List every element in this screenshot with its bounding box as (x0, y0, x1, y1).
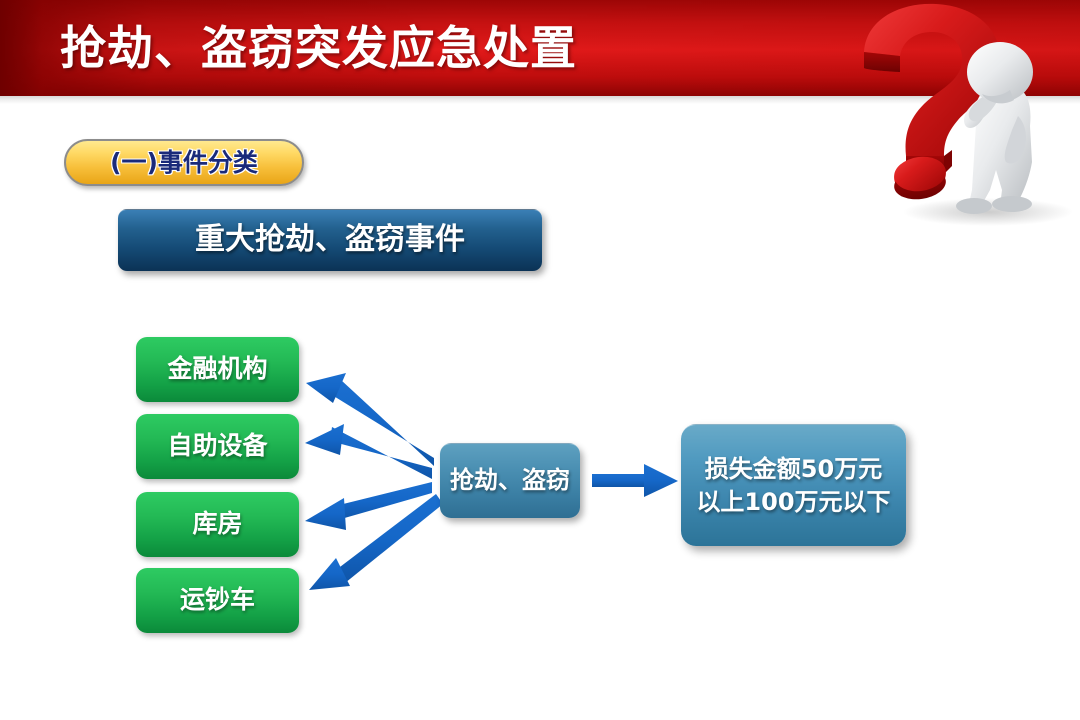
slide-canvas: 抢劫、盗窃突发应急处置 (0, 0, 1080, 720)
arrow-to-loss-amount (592, 464, 678, 497)
heading-box[interactable]: 重大抢劫、盗窃事件 (118, 209, 542, 271)
category-box-self-service-equipment[interactable]: 自助设备 (136, 414, 299, 479)
outcome-line-2: 以上100万元以下 (696, 486, 890, 519)
category-label: 运钞车 (136, 568, 299, 631)
category-box-financial-institution[interactable]: 金融机构 (136, 337, 299, 402)
category-box-warehouse[interactable]: 库房 (136, 492, 299, 557)
category-label: 库房 (136, 492, 299, 555)
arrow-to-financial-institution (306, 373, 434, 466)
arrow-to-warehouse (305, 482, 432, 530)
question-mark-illustration (840, 0, 1080, 230)
heading-box-label: 重大抢劫、盗窃事件 (118, 210, 542, 270)
arrow-to-self-service-equipment (305, 424, 432, 479)
outcome-box-loss-amount[interactable]: 损失金额50万元 以上100万元以下 (681, 424, 906, 546)
category-box-cash-truck[interactable]: 运钞车 (136, 568, 299, 633)
page-title: 抢劫、盗窃突发应急处置 (60, 14, 577, 82)
outcome-line-1: 损失金额50万元 (705, 453, 882, 486)
arrow-to-cash-truck (309, 494, 443, 590)
category-label: 自助设备 (136, 414, 299, 477)
section-pill-label: (一)事件分类 (66, 141, 302, 184)
center-box-label: 抢劫、盗窃 (440, 444, 580, 517)
category-label: 金融机构 (136, 337, 299, 400)
center-box-robbery-theft[interactable]: 抢劫、盗窃 (440, 443, 580, 518)
section-pill[interactable]: (一)事件分类 (64, 139, 304, 186)
thinking-person-3d-icon (956, 42, 1033, 214)
